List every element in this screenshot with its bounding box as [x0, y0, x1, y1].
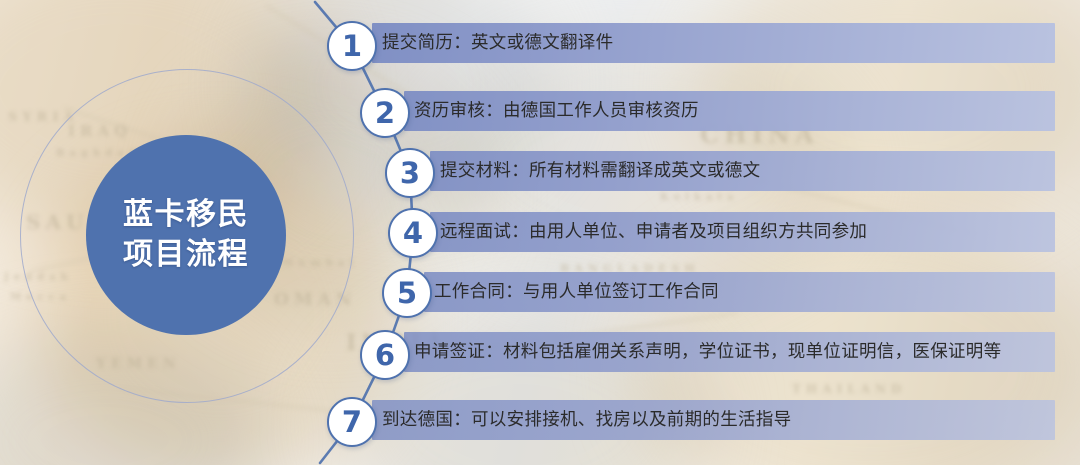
step-text: 提交简历：英文或德文翻译件 — [382, 23, 613, 63]
process-step-list: 提交简历：英文或德文翻译件1资历审核：由德国工作人员审核资历2提交材料：所有材料… — [0, 0, 1080, 465]
step-number-badge-1[interactable]: 1 — [327, 21, 377, 71]
step-text: 申请签证：材料包括雇佣关系声明，学位证书，现单位证明信，医保证明等 — [414, 332, 1001, 372]
step-text: 远程面试：由用人单位、申请者及项目组织方共同参加 — [440, 212, 867, 252]
process-step: 资历审核：由德国工作人员审核资历 — [0, 91, 1080, 131]
infographic-canvas: SYRIAIRAQBaghdadSAUDIJeddahMeccaOMANYEME… — [0, 0, 1080, 465]
process-step: 远程面试：由用人单位、申请者及项目组织方共同参加 — [0, 212, 1080, 252]
process-step: 工作合同：与用人单位签订工作合同 — [0, 272, 1080, 312]
step-number-badge-3[interactable]: 3 — [385, 148, 435, 198]
step-text: 提交材料：所有材料需翻译成英文或德文 — [440, 151, 760, 191]
process-step: 提交简历：英文或德文翻译件 — [0, 23, 1080, 63]
step-text: 工作合同：与用人单位签订工作合同 — [434, 272, 719, 312]
step-number-badge-4[interactable]: 4 — [388, 208, 438, 258]
step-text: 到达德国：可以安排接机、找房以及前期的生活指导 — [382, 400, 791, 440]
process-step: 申请签证：材料包括雇佣关系声明，学位证书，现单位证明信，医保证明等 — [0, 332, 1080, 372]
process-step: 提交材料：所有材料需翻译成英文或德文 — [0, 151, 1080, 191]
step-number-badge-2[interactable]: 2 — [360, 88, 410, 138]
step-number-badge-6[interactable]: 6 — [360, 330, 410, 380]
process-step: 到达德国：可以安排接机、找房以及前期的生活指导 — [0, 400, 1080, 440]
step-number-badge-5[interactable]: 5 — [382, 268, 432, 318]
step-text: 资历审核：由德国工作人员审核资历 — [414, 91, 699, 131]
step-number-badge-7[interactable]: 7 — [327, 397, 377, 447]
